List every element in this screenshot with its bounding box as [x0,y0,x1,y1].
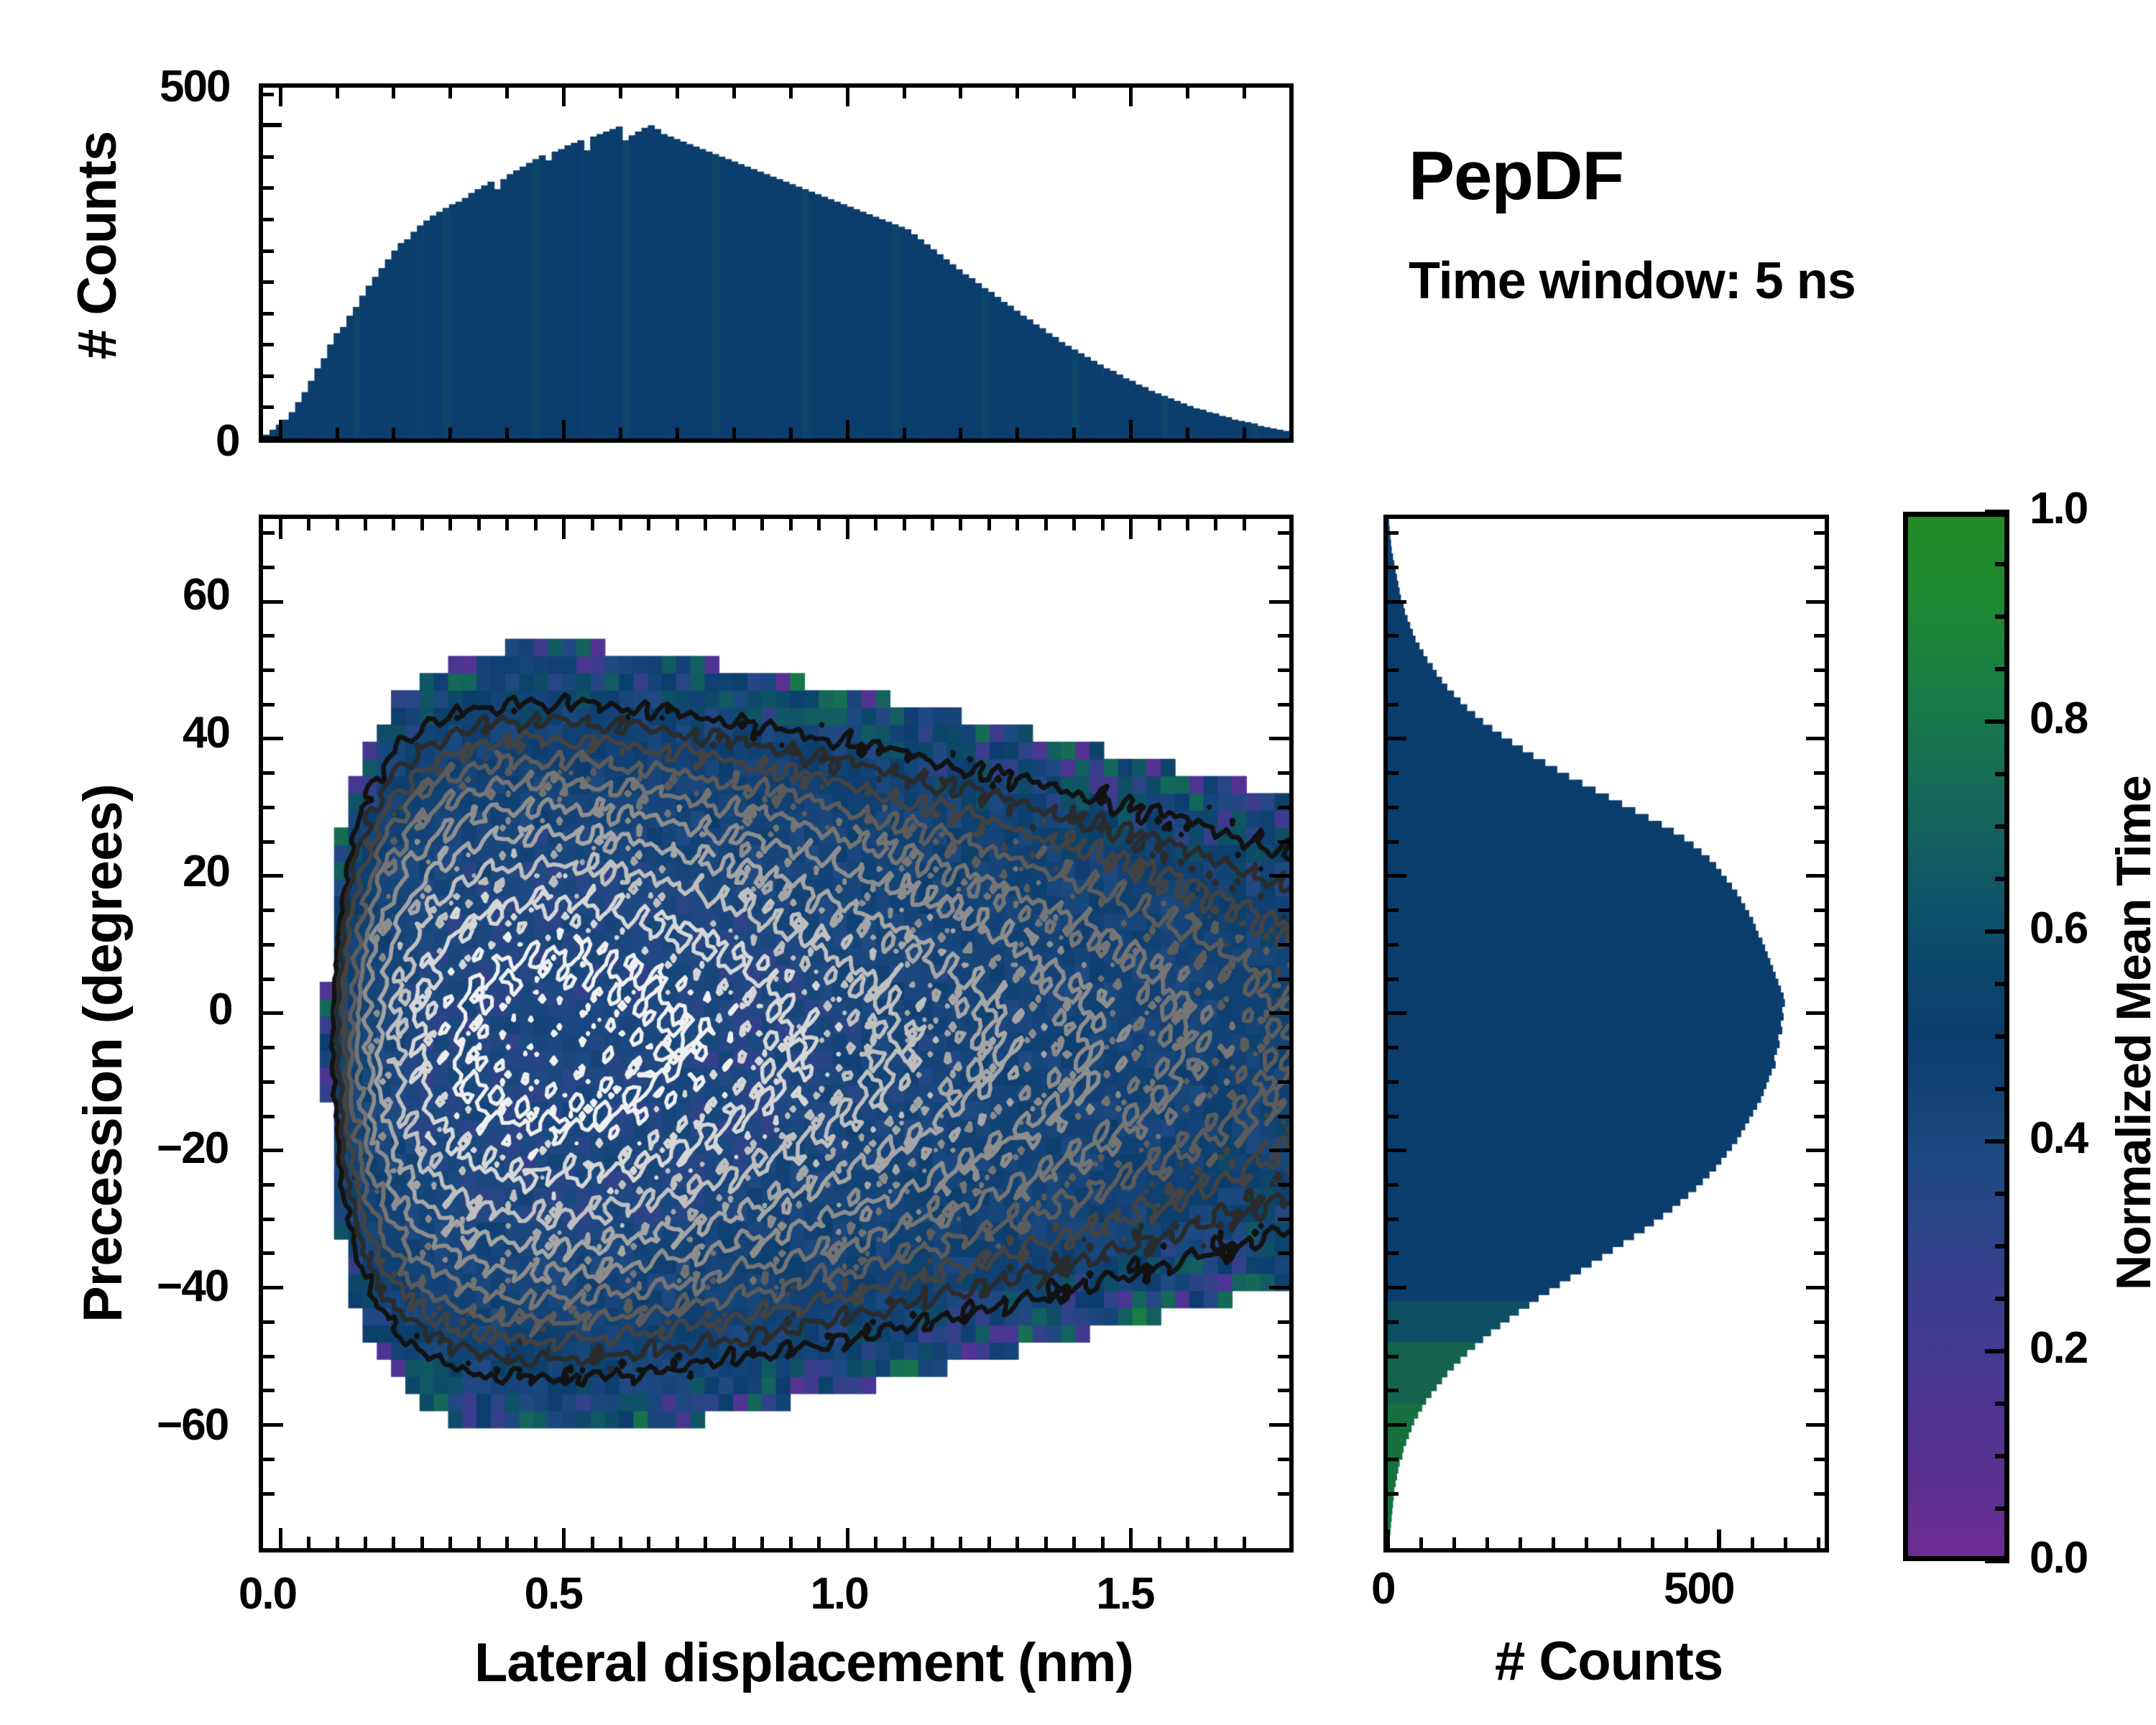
main-xtick [987,519,991,530]
top-hist-xtick [959,428,962,438]
right-hist-ytick [1814,840,1825,844]
main-xtick [789,1537,793,1548]
right-hist-ytick [1388,1046,1399,1049]
main-ytick [1278,566,1289,569]
main-ytick [263,1286,283,1289]
right-hist-ytick [1388,1011,1406,1015]
main-xtick [732,1537,736,1548]
right-hist-ytick [1806,1423,1825,1427]
top-hist-ytick-minor [263,155,274,159]
main-ytick [263,874,283,878]
right-hist-ytick [1814,908,1825,912]
main-xtick [1186,519,1189,530]
main-ytick [1278,1115,1289,1118]
main-xtick [704,519,707,530]
colorbar-tick [1995,562,2009,566]
main-ytick [1278,1251,1289,1255]
right-hist-ytick [1388,1183,1399,1187]
colorbar-tick [1995,1454,2009,1458]
right-hist-ytick [1388,908,1399,912]
main-xtick [931,1537,934,1548]
main-xtick [562,519,566,539]
top-hist-ytick-0: 0 [216,415,239,466]
main-xtick [505,519,509,530]
main-ytick [1278,1355,1289,1358]
main-ytick [1278,703,1289,707]
top-hist-xtick [1015,88,1019,98]
right-hist-ytick [1388,1251,1399,1255]
colorbar-tick [1985,510,2009,514]
top-hist-xtick [336,88,339,98]
right-hist-ytick [1388,634,1399,638]
right-hist-xtick-minor [1784,1537,1787,1548]
main-xtick [448,1537,452,1548]
main-ytick [1269,1149,1289,1152]
main-ytick-label-5: 40 [183,707,229,758]
right-hist-ytick [1388,1115,1399,1118]
main-xtick [647,519,650,530]
main-ytick-label-4: 20 [183,846,229,897]
right-hist-ytick [1388,737,1406,740]
main-ytick [1278,1046,1289,1049]
main-ytick [263,1149,283,1152]
main-xtick [704,1537,707,1548]
main-xtick [903,519,906,530]
main-xtick [760,519,764,530]
colorbar-tick [1985,1559,2009,1563]
figure-canvas: 500 0 # Counts PepDF Time window: 5 ns −… [0,0,2156,1725]
density-contours [263,519,1289,1548]
main-xtick [392,519,395,530]
main-ytick [263,1218,275,1221]
main-xtick [336,519,339,530]
colorbar-tick-label-0: 0.0 [2030,1532,2087,1583]
main-xtick [676,519,679,530]
right-hist-xtick-minor [1618,1537,1621,1548]
main-ytick [263,806,275,809]
right-hist-ytick [1388,840,1399,844]
main-xtick [1101,519,1105,530]
right-hist-ytick [1806,1011,1825,1015]
right-hist-ytick [1388,977,1399,981]
right-hist-ytick [1814,1458,1825,1461]
colorbar-tick [1995,1192,2009,1196]
right-hist-ytick [1806,874,1825,878]
top-hist-xtick [619,428,622,438]
main-xtick [1158,1537,1161,1548]
right-hist-ytick [1814,703,1825,707]
main-xtick [1243,519,1246,530]
main-xtick [1015,1537,1019,1548]
main-xtick [647,1537,650,1548]
top-hist-xtick [279,88,282,106]
main-ytick [263,1423,283,1427]
colorbar-tick-label-3: 0.6 [2030,903,2087,954]
main-xlabel: Lateral displacement (nm) [474,1632,1133,1694]
main-xtick [420,519,424,530]
right-hist-ytick [1814,1046,1825,1049]
right-hist-ytick [1814,1492,1825,1496]
main-ytick-label-2: −20 [157,1123,228,1174]
main-ytick [263,1115,275,1118]
top-hist-xtick [448,428,452,438]
main-ytick [263,634,275,638]
right-hist-ytick [1814,806,1825,809]
colorbar-tick [1995,1034,2009,1039]
right-hist-ytick [1814,1218,1825,1221]
main-ytick [1278,531,1289,535]
main-xtick [1214,519,1217,530]
colorbar [1903,512,2009,1561]
right-hist-ytick [1388,531,1399,535]
main-ytick [1278,1183,1289,1187]
main-heatmap-axes [259,515,1294,1552]
main-ytick [263,531,275,535]
top-hist-xtick [1186,88,1189,98]
main-xtick [1072,1537,1076,1548]
top-hist-ytick-minor [263,218,274,221]
main-xtick [903,1537,906,1548]
right-hist-ytick [1388,1423,1406,1427]
right-hist-ytick [1814,1183,1825,1187]
main-xtick [562,1528,566,1548]
main-ytick [263,668,275,672]
main-ytick [1278,1320,1289,1324]
right-hist-ytick [1814,1355,1825,1358]
right-hist-xtick-minor [1685,1537,1688,1548]
top-hist-xtick [903,88,906,98]
main-ytick [263,1251,275,1255]
right-hist-ytick [1814,668,1825,672]
right-hist-xtick-0: 0 [1371,1563,1394,1614]
top-hist-ytick-minor [263,249,274,253]
main-ytick [263,1355,275,1358]
main-ytick-label-6: 60 [183,569,229,620]
main-xtick [760,1537,764,1548]
main-xtick [392,1537,395,1548]
main-xtick [1158,519,1161,530]
right-hist-ytick [1814,1320,1825,1324]
main-xtick [477,519,481,530]
top-hist-xtick [279,420,282,438]
top-hist-ytick-minor [263,280,274,284]
right-hist-ytick [1814,1389,1825,1392]
right-hist-ytick [1388,1389,1399,1392]
top-hist-ytick-minor [263,374,274,378]
top-hist-xtick [562,420,566,438]
right-hist-xtick-minor [1519,1537,1522,1548]
right-hist-xtick-major-1 [1717,1529,1721,1548]
top-hist-xtick [336,428,339,438]
right-hist-ytick [1388,1149,1406,1152]
main-xtick [1015,519,1019,530]
top-hist-xtick [732,88,736,98]
top-hist-xtick [1243,428,1246,438]
right-hist-ytick [1814,771,1825,775]
main-ytick [1278,840,1289,844]
main-ytick-label-3: 0 [208,984,231,1035]
main-ytick [1278,1492,1289,1496]
main-ytick [1278,668,1289,672]
right-hist-ytick [1814,566,1825,569]
right-hist-ytick [1814,1251,1825,1255]
main-xtick [959,519,962,530]
main-xtick [987,1537,991,1548]
right-hist-ytick [1814,977,1825,981]
top-hist-xtick [789,428,793,438]
colorbar-tick-label-5: 1.0 [2030,483,2087,534]
right-hist-xtick-minor [1452,1537,1456,1548]
main-ytick [263,703,275,707]
colorbar-tick-label-4: 0.8 [2030,693,2087,744]
right-hist-ytick [1814,1115,1825,1118]
main-ytick [1278,908,1289,912]
right-hist-ytick [1814,943,1825,947]
main-xtick [1129,1528,1133,1548]
colorbar-tick [1995,1297,2009,1301]
main-xtick [846,519,849,539]
right-hist-xtick-minor [1817,1537,1820,1548]
right-hist-xtick-minor [1751,1537,1754,1548]
main-ytick [263,908,275,912]
right-histogram-bars [1388,519,1825,1548]
top-hist-xtick [1129,420,1133,438]
top-hist-ylabel: # Counts [66,132,129,359]
main-ytick [1278,943,1289,947]
right-hist-xlabel: # Counts [1495,1630,1723,1693]
main-ytick [1278,1218,1289,1221]
colorbar-tick [1985,929,2009,934]
main-xtick [874,1537,877,1548]
top-hist-xtick [448,88,452,98]
main-xtick [1129,519,1133,539]
main-xtick [591,519,594,530]
top-hist-xtick [732,428,736,438]
figure-subtitle: Time window: 5 ns [1409,252,1856,310]
top-hist-ytick-minor [263,343,274,346]
right-hist-xtick-minor [1485,1537,1489,1548]
top-hist-xtick [505,88,509,98]
main-xtick [336,1537,339,1548]
right-hist-ytick [1388,1320,1399,1324]
right-hist-xtick-major-0 [1386,1529,1390,1548]
main-xtick [1044,1537,1048,1548]
colorbar-tick [1995,1244,2009,1248]
colorbar-tick [1995,667,2009,671]
colorbar-tick [1985,719,2009,724]
top-hist-xtick [1072,88,1076,98]
main-xtick [846,1528,849,1548]
right-hist-ytick [1806,737,1825,740]
right-hist-ytick [1814,634,1825,638]
right-hist-xtick-minor [1552,1537,1555,1548]
main-ytick [1269,737,1289,740]
main-ytick [1269,874,1289,878]
main-xtick [364,1537,367,1548]
main-xtick [619,1537,622,1548]
top-hist-xtick [392,428,395,438]
main-xtick [591,1537,594,1548]
right-hist-ytick [1388,566,1399,569]
right-hist-ytick [1388,600,1406,604]
main-xtick [420,1537,424,1548]
top-hist-ytick-major-1 [263,123,282,127]
colorbar-tick [1985,1349,2009,1353]
top-hist-ytick-minor [263,93,274,96]
main-xtick [1101,1537,1105,1548]
main-xtick [505,1537,509,1548]
right-hist-ytick [1388,1492,1399,1496]
right-hist-xtick-minor [1585,1537,1588,1548]
top-hist-xtick [1186,428,1189,438]
right-hist-ytick [1388,1286,1406,1289]
main-ytick [1278,1458,1289,1461]
right-hist-ytick [1814,531,1825,535]
top-hist-xtick [1015,428,1019,438]
top-hist-xtick [959,88,962,98]
main-ytick-label-0: −60 [157,1399,228,1450]
colorbar-tick [1995,1402,2009,1406]
colorbar-tick [1985,1139,2009,1144]
top-hist-ytick-minor [263,186,274,190]
main-ytick [1269,1423,1289,1427]
main-xtick-label-1: 0.5 [525,1568,582,1619]
top-histogram-bars [263,88,1289,438]
main-xtick [817,1537,821,1548]
main-ytick [1278,1080,1289,1084]
colorbar-tick [1995,1087,2009,1091]
right-hist-ytick [1388,1458,1399,1461]
right-hist-ytick [1806,1149,1825,1152]
main-ytick [1278,634,1289,638]
colorbar-tick [1995,1506,2009,1511]
main-ytick [263,1080,275,1084]
right-hist-ytick [1388,1080,1399,1084]
right-hist-ytick [1388,703,1399,707]
main-xtick [959,1537,962,1548]
main-xtick [364,519,367,530]
main-xtick [931,519,934,530]
main-xtick [1044,519,1048,530]
main-ytick [1269,1286,1289,1289]
top-hist-xtick [392,88,395,98]
main-xtick [279,519,282,539]
main-xtick [477,1537,481,1548]
main-ytick [263,1320,275,1324]
main-ytick [1278,771,1289,775]
main-ytick [263,600,283,604]
main-ylabel: Precession (degrees) [72,784,134,1322]
top-hist-xtick [562,88,566,106]
right-hist-ytick [1388,1218,1399,1221]
main-xtick [1186,1537,1189,1548]
top-hist-xtick [676,88,679,98]
main-ytick-label-1: −40 [157,1261,228,1312]
main-xtick [534,1537,538,1548]
top-hist-xtick [789,88,793,98]
colorbar-tick-label-2: 0.4 [2030,1113,2087,1164]
right-hist-ytick [1806,1286,1825,1289]
right-hist-ytick [1388,943,1399,947]
main-ytick [263,943,275,947]
main-ytick [263,1492,275,1496]
top-histogram-axes [259,83,1294,443]
main-xtick-label-0: 0.0 [239,1568,296,1619]
top-hist-ytick-minor [263,405,274,409]
main-xtick [307,519,310,530]
main-xtick [1214,1537,1217,1548]
right-hist-xtick-500: 500 [1664,1563,1733,1614]
top-hist-xtick [846,88,849,106]
main-ytick [263,1389,275,1392]
main-ytick [1278,977,1289,981]
main-ytick [1269,1011,1289,1015]
main-xtick [732,519,736,530]
top-hist-xtick [846,420,849,438]
main-ytick [263,737,283,740]
top-hist-xtick [1243,88,1246,98]
main-ytick [263,1011,283,1015]
right-hist-ytick [1388,1355,1399,1358]
main-xtick [448,519,452,530]
right-hist-ytick [1806,600,1825,604]
main-ytick [1269,600,1289,604]
main-ytick [263,1046,275,1049]
main-xtick [534,519,538,530]
right-hist-xtick-minor [1419,1537,1423,1548]
right-hist-ytick [1388,874,1406,878]
top-hist-xtick [676,428,679,438]
right-hist-ytick [1388,771,1399,775]
main-xtick-label-2: 1.0 [810,1568,867,1619]
main-xtick [619,519,622,530]
main-ytick [263,1458,275,1461]
main-ytick [263,840,275,844]
colorbar-tick [1995,824,2009,829]
top-hist-xtick [1072,428,1076,438]
main-xtick [1072,519,1076,530]
main-xtick [817,519,821,530]
top-hist-xtick [619,88,622,98]
colorbar-label: Normalized Mean Time [2106,776,2156,1290]
main-xtick [279,1528,282,1548]
main-xtick-label-3: 1.5 [1096,1568,1153,1619]
main-ytick [263,566,275,569]
colorbar-tick [1995,982,2009,986]
colorbar-tick [1995,772,2009,776]
main-xtick [789,519,793,530]
main-xtick [1243,1537,1246,1548]
right-hist-ytick [1388,806,1399,809]
main-xtick [874,519,877,530]
main-ytick [263,977,275,981]
main-ytick [263,1183,275,1187]
colorbar-tick [1995,615,2009,619]
right-hist-ytick [1814,1080,1825,1084]
right-histogram-axes [1383,515,1829,1552]
top-hist-xtick [903,428,906,438]
colorbar-tick-label-1: 0.2 [2030,1322,2087,1374]
top-hist-ytick-minor [263,312,274,316]
main-xtick [307,1537,310,1548]
main-xtick [676,1537,679,1548]
colorbar-tick [1995,877,2009,881]
main-ytick [1278,1389,1289,1392]
main-ytick [263,771,275,775]
right-hist-ytick [1388,668,1399,672]
figure-title: PepDF [1409,137,1623,216]
top-hist-xtick [1129,88,1133,106]
